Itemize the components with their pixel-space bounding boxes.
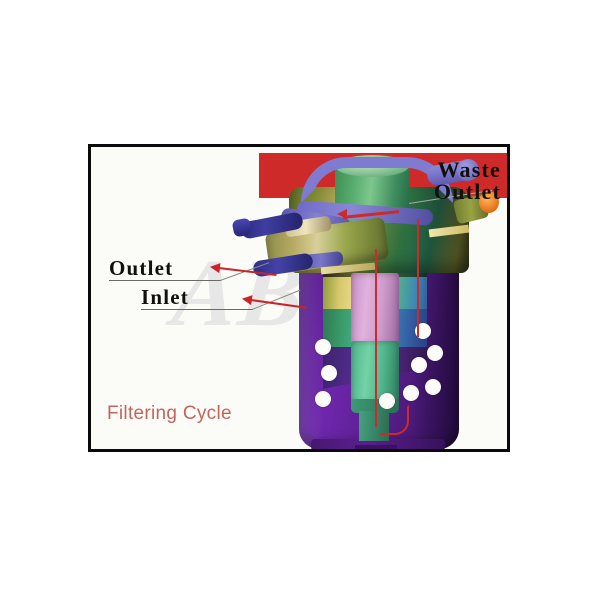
outlet-label: Outlet — [109, 256, 173, 281]
flow-arrow-bottom-turn — [379, 405, 409, 435]
illustration-canvas: ABCD — [0, 0, 600, 600]
inlet-label: Inlet — [141, 285, 189, 310]
port-hole — [411, 357, 427, 373]
port-hole — [425, 379, 441, 395]
port-hole — [315, 339, 331, 355]
diagram-frame: ABCD — [88, 144, 510, 452]
port-hole — [427, 345, 443, 361]
vessel-drain-notch — [355, 445, 397, 452]
flow-arrowhead-left — [337, 209, 347, 219]
port-hole — [315, 391, 331, 407]
port-hole — [403, 385, 419, 401]
port-hole — [321, 365, 337, 381]
waste-outlet-label-line2: Outlet — [349, 179, 501, 205]
diagram-caption: Filtering Cycle — [107, 403, 232, 425]
